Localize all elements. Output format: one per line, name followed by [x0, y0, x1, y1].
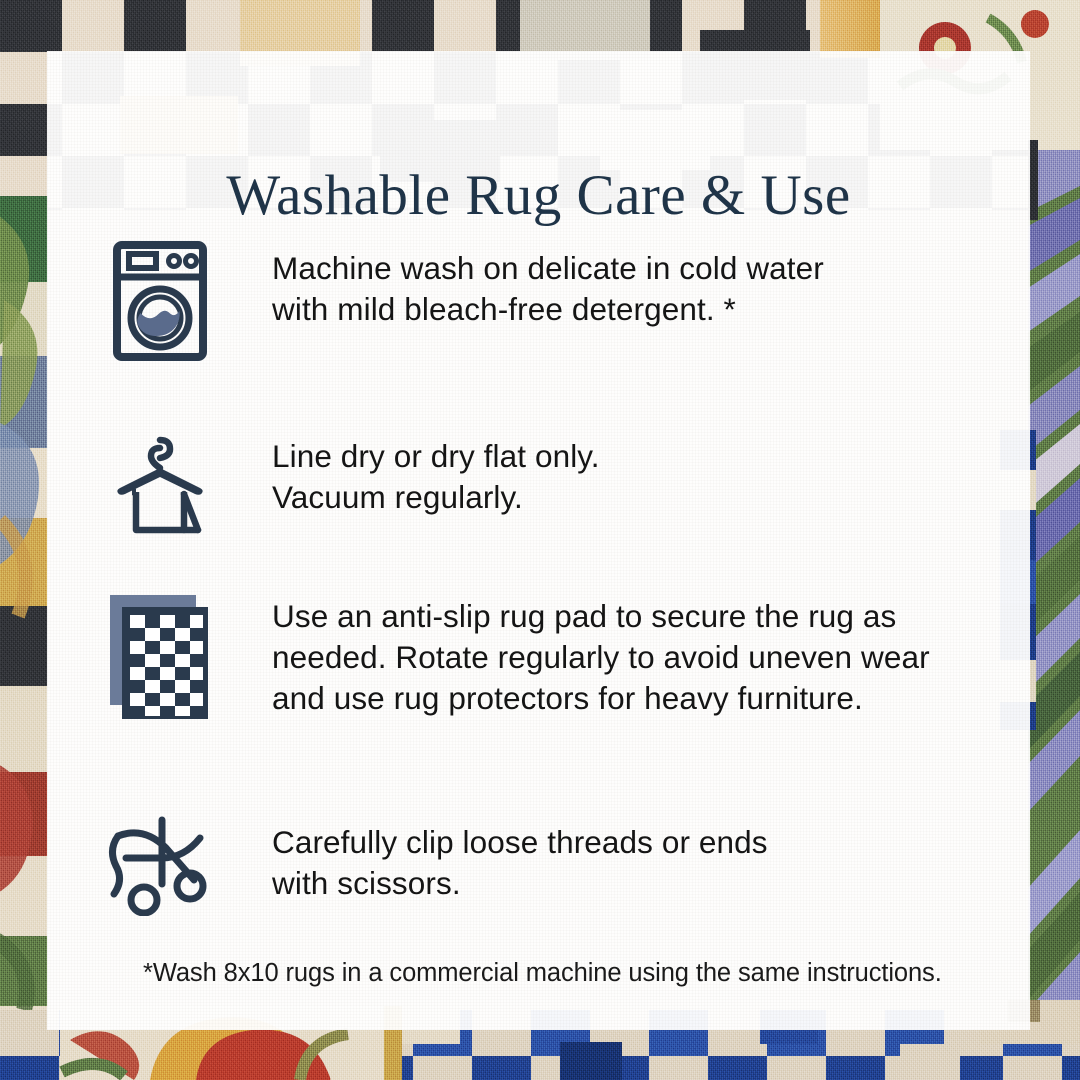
list-item: Machine wash on delicate in cold water w…: [47, 234, 1030, 406]
rug-pad-icon-cell: [47, 578, 272, 721]
footnote: *Wash 8x10 rugs in a commercial machine …: [143, 956, 942, 990]
instruction-text: Carefully clip loose threads or ends wit…: [272, 786, 1030, 904]
scissors-icon: [104, 814, 216, 916]
instruction-text: Use an anti-slip rug pad to secure the r…: [272, 578, 1030, 719]
hanger-with-towel-icon: [108, 430, 212, 534]
washing-machine-icon-cell: [47, 234, 272, 362]
instruction-line: Use an anti-slip rug pad to secure the r…: [272, 596, 1030, 637]
instruction-line: with scissors.: [272, 863, 1030, 904]
hanger-icon-cell: [47, 406, 272, 534]
instruction-line: needed. Rotate regularly to avoid uneven…: [272, 637, 1030, 678]
care-instructions-card: Washable Rug Care & Use: [47, 51, 1030, 1030]
washing-machine-icon: [112, 240, 208, 362]
instruction-text: Machine wash on delicate in cold water w…: [272, 234, 1030, 330]
page-title: Washable Rug Care & Use: [47, 166, 1030, 226]
list-item: Use an anti-slip rug pad to secure the r…: [47, 578, 1030, 786]
instruction-line: Vacuum regularly.: [272, 477, 1030, 518]
instruction-line: and use rug protectors for heavy furnitu…: [272, 678, 1030, 719]
instruction-text: Line dry or dry flat only. Vacuum regula…: [272, 406, 1030, 518]
instruction-line: Machine wash on delicate in cold water: [272, 248, 1030, 289]
screenshot-canvas: Washable Rug Care & Use: [0, 0, 1080, 1080]
checkerboard-rug-pad-icon: [108, 593, 212, 721]
instruction-line: Carefully clip loose threads or ends: [272, 822, 1030, 863]
instruction-line: with mild bleach-free detergent. *: [272, 289, 1030, 330]
instructions-list: Machine wash on delicate in cold water w…: [47, 234, 1030, 926]
list-item: Carefully clip loose threads or ends wit…: [47, 786, 1030, 926]
instruction-line: Line dry or dry flat only.: [272, 436, 1030, 477]
scissors-icon-cell: [47, 786, 272, 916]
list-item: Line dry or dry flat only. Vacuum regula…: [47, 406, 1030, 578]
